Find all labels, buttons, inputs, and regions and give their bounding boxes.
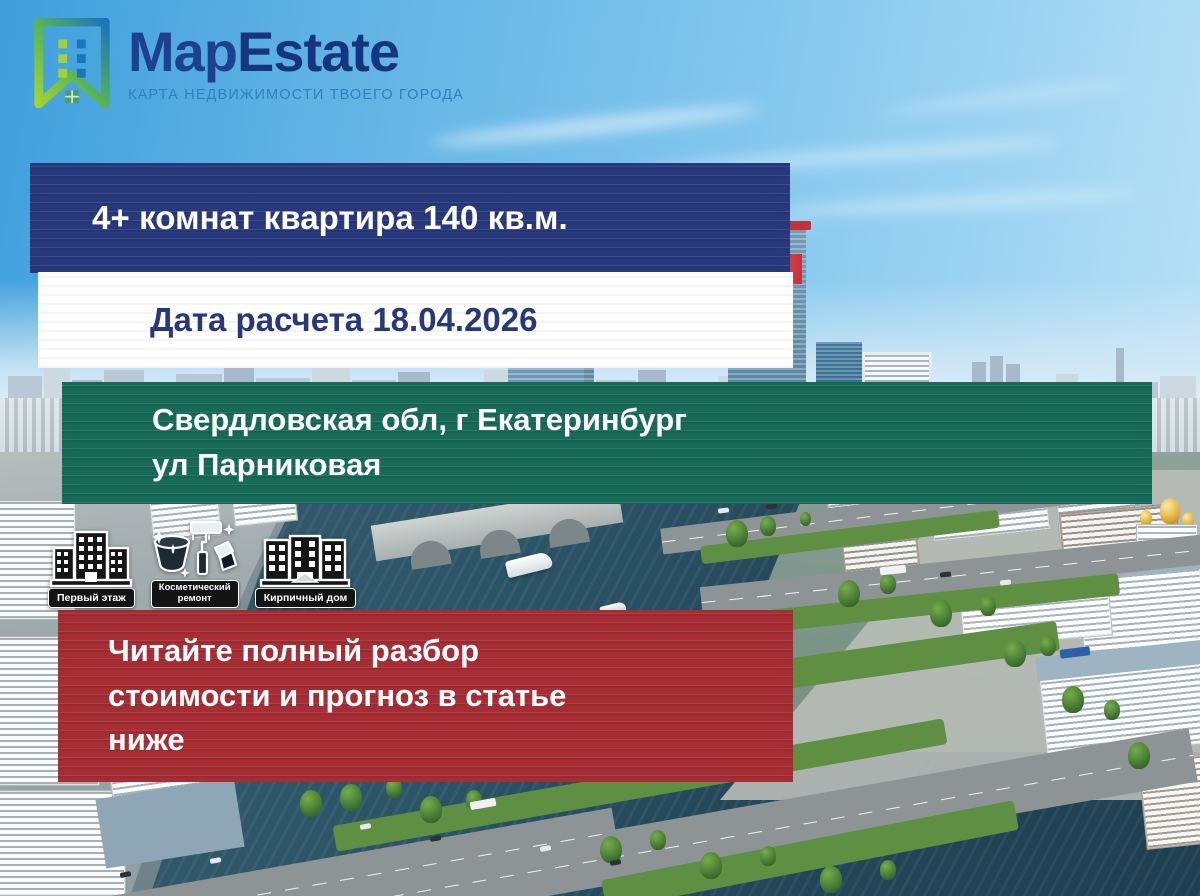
tree [880, 860, 896, 880]
address-banner: Свердловская обл, г Екатеринбург ул Парн… [62, 382, 1152, 504]
tree [300, 790, 322, 817]
cathedral-dome [1160, 498, 1180, 524]
tree [760, 846, 776, 866]
brick-building-icon [259, 524, 351, 592]
tree [700, 852, 722, 879]
cta-banner-text: Читайте полный разбор стоимости и прогно… [108, 629, 566, 764]
brand-logo[interactable]: MapEstate КАРТА НЕДВИЖИМОСТИ ТВОЕГО ГОРО… [30, 18, 464, 108]
tree [726, 520, 748, 547]
tree [880, 574, 896, 594]
tree [838, 580, 860, 607]
brand-name: MapEstate [128, 24, 464, 80]
badge-first-floor[interactable]: Первый этаж [48, 524, 135, 608]
badge-cosmetic-renovation[interactable]: Косметический ремонт [149, 516, 241, 608]
tree [1040, 636, 1056, 656]
tree [800, 512, 811, 526]
tree [420, 796, 442, 823]
apartment-building-icon [49, 524, 133, 592]
badge-brick-house[interactable]: Кирпичный дом [255, 524, 357, 608]
tree [1128, 742, 1150, 769]
cta-banner[interactable]: Читайте полный разбор стоимости и прогно… [58, 610, 793, 782]
promo-card: MapEstate КАРТА НЕДВИЖИМОСТИ ТВОЕГО ГОРО… [0, 0, 1200, 896]
badge-label: Косметический ремонт [151, 580, 239, 608]
date-banner-text: Дата расчета 18.04.2026 [150, 300, 537, 340]
property-banner-text: 4+ комнат квартира 140 кв.м. [92, 198, 568, 238]
tree [760, 516, 776, 536]
map-pin-building-icon [30, 18, 114, 108]
date-banner: Дата расчета 18.04.2026 [38, 272, 793, 368]
tree [1004, 640, 1026, 667]
property-banner: 4+ комнат квартира 140 кв.м. [30, 163, 790, 273]
feature-badges: Первый этаж [48, 516, 356, 608]
tree [820, 866, 842, 893]
tree [930, 600, 952, 627]
tree [340, 784, 362, 811]
brand-tagline: КАРТА НЕДВИЖИМОСТИ ТВОЕГО ГОРОДА [128, 87, 464, 103]
tree [980, 596, 996, 616]
tree [650, 830, 666, 850]
address-banner-text: Свердловская обл, г Екатеринбург ул Парн… [152, 398, 687, 488]
paint-roller-brush-bucket-icon [149, 516, 241, 584]
tree [1104, 700, 1120, 720]
tree [1062, 686, 1084, 713]
